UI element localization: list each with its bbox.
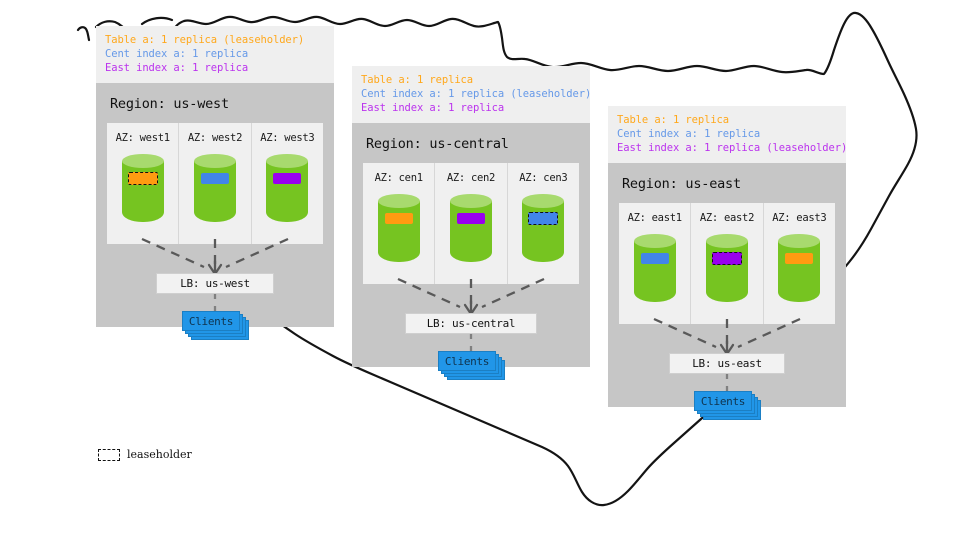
az-label-west3: AZ: west3 — [252, 132, 323, 144]
replica-chip-table-leaseholder[interactable] — [128, 172, 158, 185]
clients-label: Clients — [701, 395, 745, 408]
az-cell-east2[interactable]: AZ: east2 — [690, 203, 762, 324]
region-title-us-central: Region: us-central — [352, 123, 590, 163]
node-cylinder-cen3[interactable] — [522, 194, 564, 262]
replica-chip-cent-leaseholder[interactable] — [528, 212, 558, 225]
replica-line-table: Table a: 1 replica — [617, 113, 837, 127]
node-cylinder-east1[interactable] — [634, 234, 676, 302]
az-cell-east3[interactable]: AZ: east3 — [763, 203, 835, 324]
leaseholder-legend-label: leaseholder — [127, 448, 192, 461]
clients-label: Clients — [445, 355, 489, 368]
replica-line-table: Table a: 1 replica — [361, 73, 581, 87]
az-label-cen2: AZ: cen2 — [435, 172, 506, 184]
az-label-cen1: AZ: cen1 — [363, 172, 434, 184]
dashed-rect-icon — [98, 449, 120, 461]
replica-summary-us-west: Table a: 1 replica (leaseholder) Cent in… — [96, 26, 334, 83]
replica-chip-east-leaseholder[interactable] — [712, 252, 742, 265]
replica-line-east: East index a: 1 replica — [361, 101, 581, 115]
load-balancer-label: LB: us-east — [692, 357, 762, 370]
az-cell-west3[interactable]: AZ: west3 — [251, 123, 323, 244]
clients-stack-us-west[interactable]: Clients — [182, 311, 252, 340]
replica-line-table: Table a: 1 replica (leaseholder) — [105, 33, 325, 47]
clients-label: Clients — [189, 315, 233, 328]
node-cylinder-east2[interactable] — [706, 234, 748, 302]
node-cylinder-west2[interactable] — [194, 154, 236, 222]
clients-stack-us-central[interactable]: Clients — [438, 351, 508, 380]
load-balancer-us-east[interactable]: LB: us-east — [669, 353, 785, 374]
region-panel-us-west: Table a: 1 replica (leaseholder) Cent in… — [96, 26, 334, 327]
replica-chip-cent[interactable] — [201, 173, 229, 184]
az-cell-cen1[interactable]: AZ: cen1 — [363, 163, 434, 284]
az-strip-us-east: AZ: east1 AZ: east2 — [619, 203, 835, 324]
node-cylinder-cen2[interactable] — [450, 194, 492, 262]
az-cell-west2[interactable]: AZ: west2 — [178, 123, 250, 244]
replica-line-east: East index a: 1 replica — [105, 61, 325, 75]
leaseholder-legend: leaseholder — [98, 448, 192, 461]
replica-chip-east[interactable] — [273, 173, 301, 184]
region-title-us-east: Region: us-east — [608, 163, 846, 203]
replica-line-cent: Cent index a: 1 replica — [617, 127, 837, 141]
load-balancer-label: LB: us-central — [427, 317, 516, 330]
az-label-west1: AZ: west1 — [107, 132, 178, 144]
replica-chip-cent[interactable] — [641, 253, 669, 264]
load-balancer-label: LB: us-west — [180, 277, 250, 290]
replica-line-cent: Cent index a: 1 replica — [105, 47, 325, 61]
az-cell-cen2[interactable]: AZ: cen2 — [434, 163, 506, 284]
region-body-us-west: Region: us-west AZ: west1 AZ: west2 — [96, 83, 334, 327]
az-strip-us-central: AZ: cen1 AZ: cen2 — [363, 163, 579, 284]
node-cylinder-west3[interactable] — [266, 154, 308, 222]
az-label-east1: AZ: east1 — [619, 212, 690, 224]
node-cylinder-west1[interactable] — [122, 154, 164, 222]
az-label-west2: AZ: west2 — [179, 132, 250, 144]
load-balancer-us-west[interactable]: LB: us-west — [156, 273, 274, 294]
node-cylinder-east3[interactable] — [778, 234, 820, 302]
replica-line-east: East index a: 1 replica (leaseholder) — [617, 141, 837, 155]
az-label-cen3: AZ: cen3 — [508, 172, 579, 184]
az-cell-east1[interactable]: AZ: east1 — [619, 203, 690, 324]
region-body-us-central: Region: us-central AZ: cen1 AZ: cen2 — [352, 123, 590, 367]
replica-chip-table[interactable] — [385, 213, 413, 224]
replica-summary-us-central: Table a: 1 replica Cent index a: 1 repli… — [352, 66, 590, 123]
diagram-canvas: Table a: 1 replica (leaseholder) Cent in… — [0, 0, 960, 540]
az-label-east2: AZ: east2 — [691, 212, 762, 224]
node-cylinder-cen1[interactable] — [378, 194, 420, 262]
az-strip-us-west: AZ: west1 AZ: west2 — [107, 123, 323, 244]
load-balancer-us-central[interactable]: LB: us-central — [405, 313, 537, 334]
az-cell-west1[interactable]: AZ: west1 — [107, 123, 178, 244]
region-panel-us-east: Table a: 1 replica Cent index a: 1 repli… — [608, 106, 846, 407]
az-label-east3: AZ: east3 — [764, 212, 835, 224]
region-title-us-west: Region: us-west — [96, 83, 334, 123]
clients-stack-us-east[interactable]: Clients — [694, 391, 764, 420]
replica-line-cent: Cent index a: 1 replica (leaseholder) — [361, 87, 581, 101]
replica-chip-table[interactable] — [785, 253, 813, 264]
az-cell-cen3[interactable]: AZ: cen3 — [507, 163, 579, 284]
region-body-us-east: Region: us-east AZ: east1 AZ: east2 — [608, 163, 846, 407]
region-panel-us-central: Table a: 1 replica Cent index a: 1 repli… — [352, 66, 590, 367]
replica-chip-east[interactable] — [457, 213, 485, 224]
replica-summary-us-east: Table a: 1 replica Cent index a: 1 repli… — [608, 106, 846, 163]
